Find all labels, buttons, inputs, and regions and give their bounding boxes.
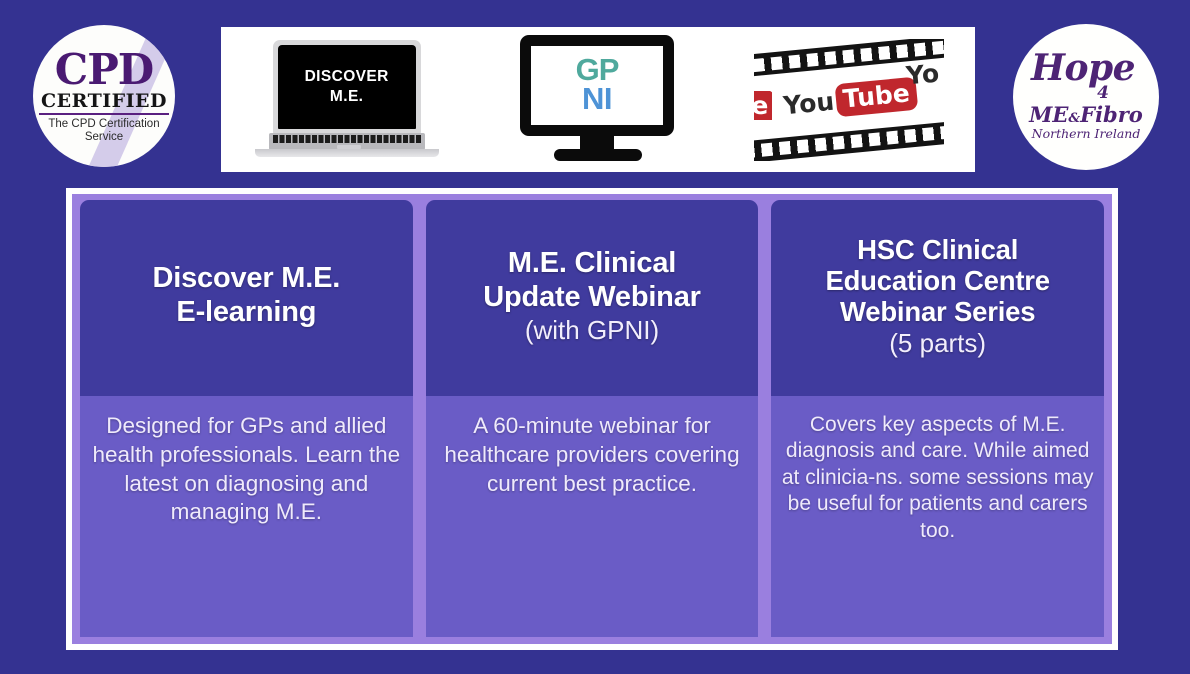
card-subtitle: (with GPNI) bbox=[525, 316, 659, 345]
laptop-screen-line1: DISCOVER bbox=[305, 69, 389, 85]
laptop-keys bbox=[273, 135, 421, 143]
card-title-line2: Update Webinar bbox=[483, 281, 700, 315]
hope-four: 4 bbox=[1097, 85, 1109, 102]
resource-card-discover-me[interactable]: Discover M.E. E-learning Designed for GP… bbox=[80, 200, 413, 637]
cpd-divider bbox=[39, 113, 169, 115]
laptop-screen-line2: M.E. bbox=[330, 89, 363, 105]
cpd-service-subtitle: The CPD Certification Service bbox=[33, 118, 175, 143]
hope-ampersand: & bbox=[1068, 111, 1080, 126]
resource-card-clinical-update-webinar[interactable]: M.E. Clinical Update Webinar (with GPNI)… bbox=[426, 200, 759, 637]
card-title-line1: HSC Clinical bbox=[857, 234, 1018, 265]
card-title-line3: Webinar Series bbox=[840, 296, 1035, 327]
laptop-trackpad bbox=[337, 145, 361, 149]
youtube-partial-right-text: Yo bbox=[905, 58, 940, 90]
hope-region: Northern Ireland bbox=[1032, 128, 1141, 141]
card-title-line2: Education Centre bbox=[825, 265, 1049, 296]
resource-card-hsc-webinar-series[interactable]: HSC Clinical Education Centre Webinar Se… bbox=[771, 200, 1104, 637]
card-description: Covers key aspects of M.E. diagnosis and… bbox=[777, 412, 1098, 544]
film-strip-band: You Tube bbox=[754, 39, 944, 161]
hope-me-fibro: ME&Fibro bbox=[1029, 104, 1143, 125]
cpd-badge-content: CPD CERTIFIED The CPD Certification Serv… bbox=[33, 49, 175, 143]
gpni-monitor-cell: GP NI bbox=[472, 27, 723, 172]
card-description: Designed for GPs and allied health profe… bbox=[86, 412, 407, 527]
card-body: A 60-minute webinar for healthcare provi… bbox=[426, 396, 759, 637]
card-description: A 60-minute webinar for healthcare provi… bbox=[432, 412, 753, 498]
laptop-computer-icon: DISCOVER M.E. bbox=[247, 36, 447, 164]
resources-panel-frame: Discover M.E. E-learning Designed for GP… bbox=[66, 188, 1118, 650]
resources-panel: Discover M.E. E-learning Designed for GP… bbox=[72, 194, 1112, 644]
card-header: HSC Clinical Education Centre Webinar Se… bbox=[771, 200, 1104, 396]
cpd-certified-label: CERTIFIED bbox=[33, 92, 175, 111]
card-body: Covers key aspects of M.E. diagnosis and… bbox=[771, 396, 1104, 637]
youtube-partial-left-text: e bbox=[754, 91, 772, 120]
hope4me-fibro-seal-icon: Hope 4 ME&Fibro Northern Ireland bbox=[1013, 24, 1159, 170]
cpd-certified-seal-icon: CPD CERTIFIED The CPD Certification Serv… bbox=[33, 25, 175, 167]
card-title-line1: M.E. Clinical bbox=[508, 247, 676, 281]
card-header: M.E. Clinical Update Webinar (with GPNI) bbox=[426, 200, 759, 396]
card-subtitle: (5 parts) bbox=[889, 329, 986, 358]
youtube-you-text: You bbox=[782, 86, 835, 120]
hope-me: ME bbox=[1029, 102, 1068, 127]
discover-me-laptop-cell: DISCOVER M.E. bbox=[221, 27, 472, 172]
hope-word: Hope bbox=[1031, 53, 1135, 84]
logo-image-strip: DISCOVER M.E. GP NI bbox=[221, 27, 975, 172]
card-title-line2: E-learning bbox=[176, 296, 316, 330]
gpni-line2: NI bbox=[582, 85, 612, 114]
laptop-screen: DISCOVER M.E. bbox=[278, 45, 416, 129]
laptop-keyboard bbox=[269, 133, 425, 150]
youtube-partial-left: e bbox=[754, 91, 772, 120]
youtube-partial-right: Yo bbox=[905, 56, 944, 90]
cpd-letters: CPD bbox=[33, 49, 175, 91]
youtube-cell: You Tube e Yo bbox=[724, 27, 975, 172]
laptop-lid: DISCOVER M.E. bbox=[273, 40, 421, 134]
youtube-film-strip-icon: You Tube e Yo bbox=[754, 39, 944, 161]
youtube-logo: You Tube bbox=[782, 76, 918, 122]
desktop-monitor-icon: GP NI bbox=[514, 35, 682, 165]
monitor-screen: GP NI bbox=[520, 35, 674, 136]
logo-bar: CPD CERTIFIED The CPD Certification Serv… bbox=[0, 0, 1190, 186]
monitor-stand-base bbox=[554, 149, 642, 161]
card-body: Designed for GPs and allied health profe… bbox=[80, 396, 413, 637]
hope-fibro: Fibro bbox=[1080, 102, 1143, 127]
card-title-line1: Discover M.E. bbox=[153, 262, 341, 296]
card-header: Discover M.E. E-learning bbox=[80, 200, 413, 396]
laptop-base bbox=[255, 149, 439, 157]
